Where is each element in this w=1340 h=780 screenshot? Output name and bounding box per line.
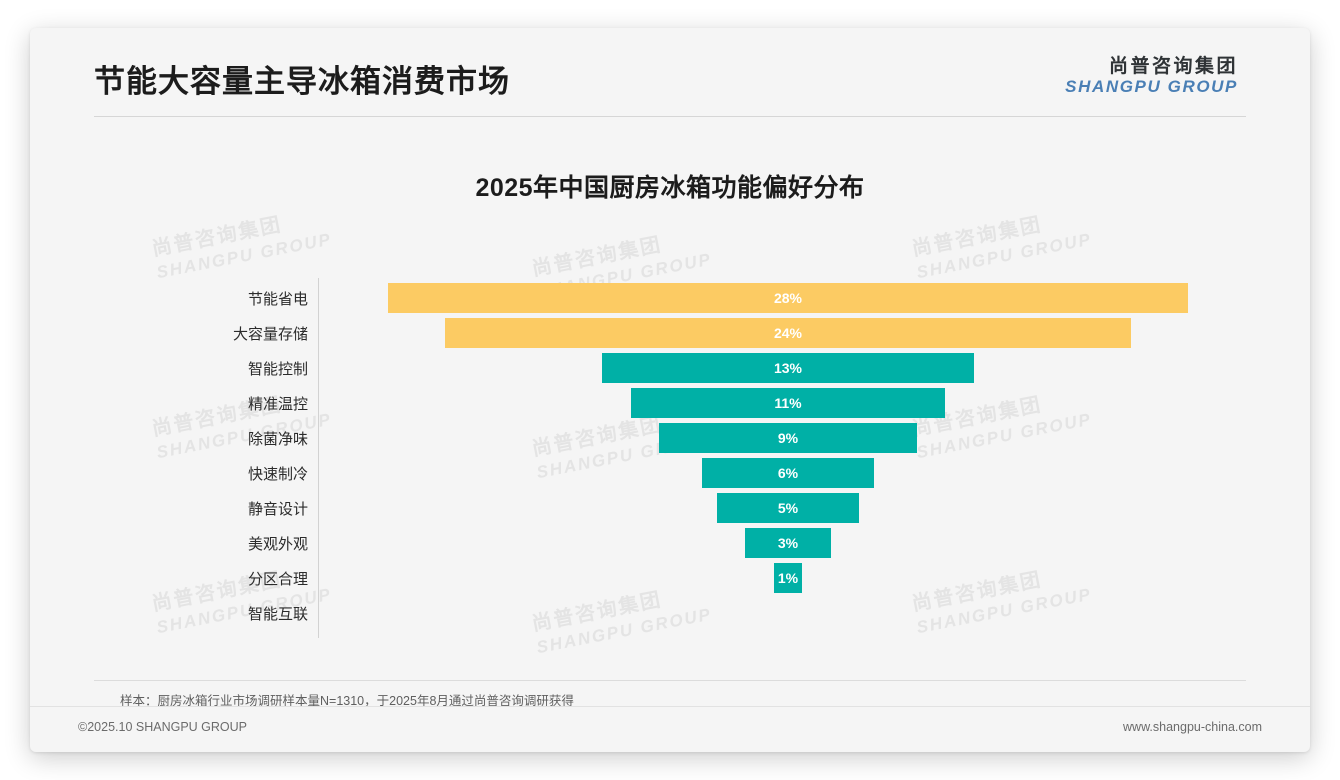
footnote-divider bbox=[94, 680, 1246, 681]
category-label: 快速制冷 bbox=[100, 456, 308, 491]
funnel-bar-rows: 节能省电28%大容量存储24%智能控制13%精准温控11%除菌净味9%快速制冷6… bbox=[100, 281, 1240, 631]
funnel-bar[interactable]: 3% bbox=[745, 528, 831, 558]
bar-value-label: 6% bbox=[778, 465, 798, 481]
funnel-row: 快速制冷6% bbox=[100, 456, 1240, 491]
bar-track: 28% bbox=[320, 281, 1240, 316]
slide-card: 节能大容量主导冰箱消费市场 尚普咨询集团 SHANGPU GROUP 2025年… bbox=[30, 28, 1310, 752]
logo-english-text: SHANGPU GROUP bbox=[1065, 77, 1238, 96]
brand-logo: 尚普咨询集团 SHANGPU GROUP bbox=[1065, 56, 1238, 96]
bar-track: 1% bbox=[320, 561, 1240, 596]
watermark-text: 尚普咨询集团SHANGPU GROUP bbox=[910, 204, 1094, 283]
bar-track: 13% bbox=[320, 351, 1240, 386]
chart-title: 2025年中国厨房冰箱功能偏好分布 bbox=[30, 168, 1310, 204]
funnel-bar[interactable]: 28% bbox=[388, 283, 1188, 313]
bar-track: 11% bbox=[320, 386, 1240, 421]
funnel-row: 大容量存储24% bbox=[100, 316, 1240, 351]
bar-track: 9% bbox=[320, 421, 1240, 456]
slide-footer: ©2025.10 SHANGPU GROUP www.shangpu-china… bbox=[30, 706, 1310, 752]
funnel-bar[interactable]: 1% bbox=[774, 563, 803, 593]
bar-track: 6% bbox=[320, 456, 1240, 491]
bar-value-label: 13% bbox=[774, 360, 802, 376]
bar-value-label: 28% bbox=[774, 290, 802, 306]
bar-value-label: 11% bbox=[774, 395, 801, 411]
category-label: 静音设计 bbox=[100, 491, 308, 526]
category-label: 分区合理 bbox=[100, 561, 308, 596]
category-label: 精准温控 bbox=[100, 386, 308, 421]
category-label: 节能省电 bbox=[100, 281, 308, 316]
funnel-bar[interactable]: 13% bbox=[602, 353, 973, 383]
category-label: 美观外观 bbox=[100, 526, 308, 561]
funnel-bar[interactable]: 24% bbox=[445, 318, 1131, 348]
funnel-bar[interactable]: 11% bbox=[631, 388, 945, 418]
screenshot-root: 节能大容量主导冰箱消费市场 尚普咨询集团 SHANGPU GROUP 2025年… bbox=[0, 0, 1340, 780]
funnel-row: 智能控制13% bbox=[100, 351, 1240, 386]
bar-track: 3% bbox=[320, 526, 1240, 561]
funnel-bar[interactable]: 6% bbox=[702, 458, 873, 488]
website-link[interactable]: www.shangpu-china.com bbox=[1123, 720, 1262, 734]
funnel-row: 智能互联 bbox=[100, 596, 1240, 631]
page-title: 节能大容量主导冰箱消费市场 bbox=[94, 56, 510, 101]
funnel-row: 美观外观3% bbox=[100, 526, 1240, 561]
category-label: 智能控制 bbox=[100, 351, 308, 386]
chart-plot-area: 尚普咨询集团SHANGPU GROUP尚普咨询集团SHANGPU GROUP尚普… bbox=[100, 243, 1240, 653]
bar-value-label: 9% bbox=[778, 430, 798, 446]
bar-track: 24% bbox=[320, 316, 1240, 351]
funnel-bar[interactable]: 5% bbox=[717, 493, 860, 523]
bar-value-label: 1% bbox=[778, 570, 798, 586]
category-label: 智能互联 bbox=[100, 596, 308, 631]
funnel-bar[interactable]: 9% bbox=[659, 423, 916, 453]
funnel-row: 除菌净味9% bbox=[100, 421, 1240, 456]
funnel-row: 节能省电28% bbox=[100, 281, 1240, 316]
copyright-text: ©2025.10 SHANGPU GROUP bbox=[78, 720, 247, 734]
header-divider bbox=[94, 116, 1246, 117]
watermark-text: 尚普咨询集团SHANGPU GROUP bbox=[150, 204, 334, 283]
bar-track: 5% bbox=[320, 491, 1240, 526]
logo-chinese-text: 尚普咨询集团 bbox=[1065, 56, 1238, 77]
funnel-row: 分区合理1% bbox=[100, 561, 1240, 596]
bar-value-label: 3% bbox=[778, 535, 798, 551]
bar-value-label: 5% bbox=[778, 500, 798, 516]
bar-track bbox=[320, 596, 1240, 631]
funnel-row: 静音设计5% bbox=[100, 491, 1240, 526]
bar-value-label: 24% bbox=[774, 325, 802, 341]
category-label: 大容量存储 bbox=[100, 316, 308, 351]
category-label: 除菌净味 bbox=[100, 421, 308, 456]
slide-header: 节能大容量主导冰箱消费市场 尚普咨询集团 SHANGPU GROUP bbox=[30, 28, 1310, 120]
funnel-row: 精准温控11% bbox=[100, 386, 1240, 421]
